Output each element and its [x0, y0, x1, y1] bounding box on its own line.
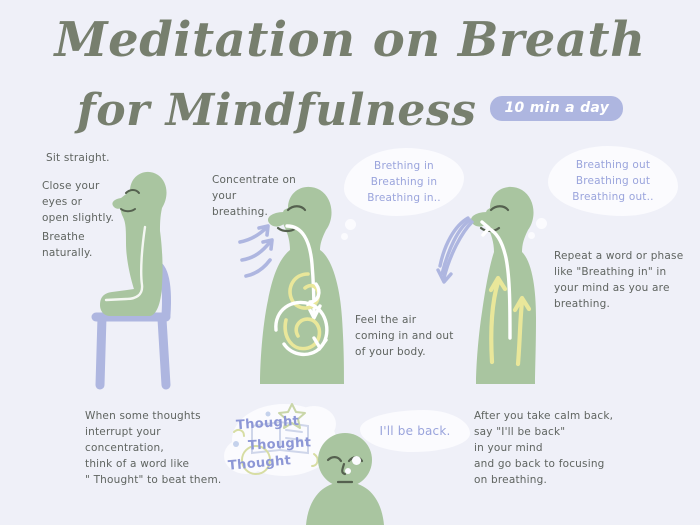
bubble-back-dot-large [352, 456, 361, 465]
seated-body [100, 172, 167, 316]
note-repeat-word: Repeat a word or phase like "Breathing i… [554, 248, 683, 312]
note-after-calm: After you take calm back, say "I'll be b… [474, 408, 613, 488]
bubble-in-dot-large [345, 219, 356, 230]
duration-badge: 10 min a day [490, 96, 623, 121]
figure-inhale [240, 178, 370, 388]
inhale-air-arrows [240, 226, 272, 276]
page-subtitle-row: for Mindfulness10 min a day [0, 88, 700, 134]
bubble-in-dot-small [341, 233, 348, 240]
bubble-back-dot-small [345, 468, 351, 474]
bubble-ill-be-back: I'll be back. [360, 410, 470, 452]
note-feel-the-air: Feel the air coming in and out of your b… [355, 312, 454, 360]
note-thoughts-interrupt: When some thoughts interrupt your concen… [85, 408, 221, 488]
front-body [306, 433, 384, 525]
page-title: Meditation on Breath [0, 14, 700, 66]
note-breathe-naturally: Breathe naturally. [42, 229, 93, 261]
infographic-canvas: Meditation on Breath for Mindfulness10 m… [0, 0, 700, 525]
note-sit-straight: Sit straight. [46, 150, 110, 166]
exhale-air-arrows [438, 218, 472, 282]
page-subtitle: for Mindfulness [77, 85, 477, 136]
